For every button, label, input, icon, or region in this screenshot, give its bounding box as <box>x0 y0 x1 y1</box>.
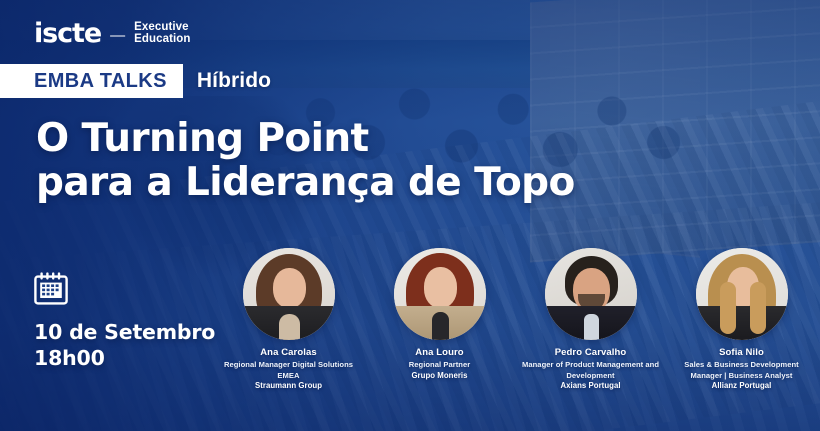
speaker-card: Sofia Nilo Sales & Business Development … <box>666 248 817 392</box>
headline-line-2: para a Liderança de Topo <box>36 161 575 205</box>
avatar <box>394 248 486 340</box>
speaker-role: Regional Manager Digital Solutions EMEA <box>213 360 364 381</box>
speaker-org: Straumann Group <box>255 381 322 392</box>
speaker-role: Sales & Business Development Manager | B… <box>666 360 817 381</box>
speaker-role: Regional Partner <box>405 360 475 370</box>
speaker-org: Allianz Portugal <box>712 381 772 392</box>
portrait-body <box>696 306 788 340</box>
event-datetime: 10 de Setembro 18h00 <box>34 272 215 371</box>
portrait-top <box>432 312 449 340</box>
speaker-list: Ana Carolas Regional Manager Digital Sol… <box>213 248 820 392</box>
avatar <box>696 248 788 340</box>
speaker-name: Pedro Carvalho <box>555 347 627 358</box>
portrait-shirt <box>584 314 599 340</box>
logo-line-education: Education <box>134 34 191 46</box>
portrait-face <box>424 267 457 308</box>
event-banner: iscte — Executive Education EMBA TALKS H… <box>0 0 820 431</box>
portrait-hair-left <box>720 282 736 334</box>
calendar-icon <box>34 272 68 305</box>
iscte-wordmark: iscte <box>34 20 101 47</box>
speaker-org: Grupo Moneris <box>411 371 467 382</box>
badge-row: EMBA TALKS Híbrido <box>0 64 271 98</box>
avatar <box>545 248 637 340</box>
avatar <box>243 248 335 340</box>
executive-education-lockup: Executive Education <box>134 22 191 46</box>
speaker-card: Ana Louro Regional Partner Grupo Moneris <box>364 248 515 392</box>
event-time: 18h00 <box>34 345 215 371</box>
portrait-face <box>273 268 306 308</box>
event-date: 10 de Setembro <box>34 320 215 344</box>
speaker-org: Axians Portugal <box>560 381 620 392</box>
portrait-hair-right <box>750 282 766 334</box>
event-date-text: 10 de Setembro 18h00 <box>34 319 215 371</box>
speaker-name: Ana Louro <box>415 347 463 358</box>
iscte-logo: iscte — Executive Education <box>34 20 191 47</box>
logo-dash-icon: — <box>110 28 125 43</box>
speaker-name: Sofia Nilo <box>719 347 764 358</box>
speaker-name: Ana Carolas <box>260 347 317 358</box>
series-badge: EMBA TALKS <box>0 64 183 98</box>
speaker-card: Ana Carolas Regional Manager Digital Sol… <box>213 248 364 392</box>
page-title: O Turning Point para a Liderança de Topo <box>36 117 575 205</box>
portrait-top <box>279 314 300 340</box>
speaker-card: Pedro Carvalho Manager of Product Manage… <box>515 248 666 392</box>
headline-line-1: O Turning Point <box>36 116 369 161</box>
speaker-role: Manager of Product Management and Develo… <box>515 360 666 381</box>
format-label: Híbrido <box>183 64 271 98</box>
